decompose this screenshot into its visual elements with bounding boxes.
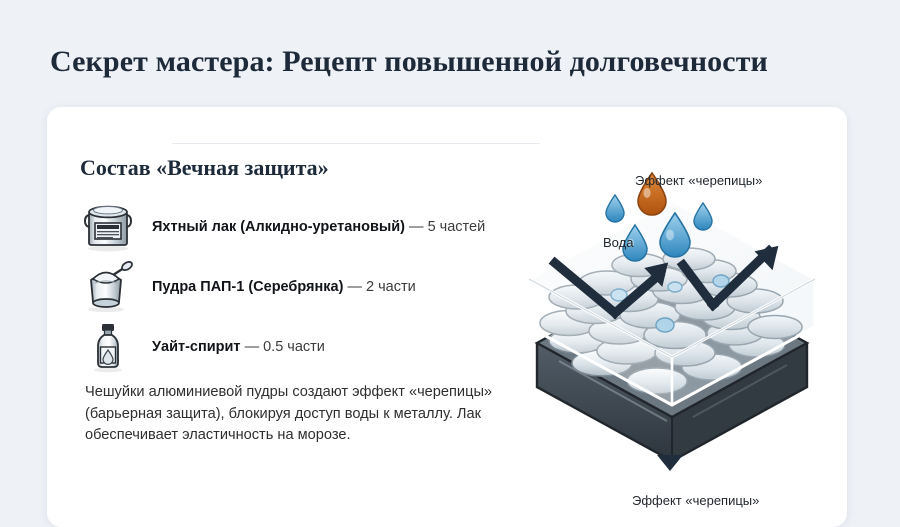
diagram-label-top: Эффект «черепицы»	[635, 173, 762, 188]
tile-effect-diagram: Эффект «черепицы» Вода Эффект «черепицы»	[507, 155, 837, 515]
ingredient-label: Уайт-спирит — 0.5 части	[152, 339, 325, 355]
infographic-page: Секрет мастера: Рецепт повышенной долгов…	[0, 0, 900, 502]
ingredient-label: Яхтный лак (Алкидно-уретановый) — 5 част…	[152, 219, 485, 235]
ingredient-label: Пудра ПАП-1 (Серебрянка) — 2 части	[152, 279, 416, 295]
explanation-text: Чешуйки алюминиевой пудры создают эффект…	[85, 382, 520, 447]
powder-jar-icon	[77, 259, 139, 315]
diagram-label-bottom: Эффект «черепицы»	[632, 493, 759, 508]
heading-divider	[172, 143, 540, 144]
ingredient-row: Уайт-спирит — 0.5 части	[77, 319, 325, 375]
page-title: Секрет мастера: Рецепт повышенной долгов…	[50, 44, 768, 80]
ingredient-amount: 5 частей	[428, 219, 486, 235]
paint-can-icon	[77, 199, 139, 255]
ingredient-name: Уайт-спирит	[152, 339, 241, 355]
ingredient-separator: —	[405, 219, 428, 235]
ingredient-row: Яхтный лак (Алкидно-уретановый) — 5 част…	[77, 199, 485, 255]
ingredient-separator: —	[241, 339, 264, 355]
diagram-illustration	[507, 155, 837, 515]
ingredient-amount: 2 части	[366, 279, 416, 295]
ingredient-name: Яхтный лак (Алкидно-уретановый)	[152, 219, 405, 235]
section-title: Состав «Вечная защита»	[80, 154, 329, 182]
solvent-bottle-icon	[77, 319, 139, 375]
ingredient-amount: 0.5 части	[263, 339, 325, 355]
ingredient-row: Пудра ПАП-1 (Серебрянка) — 2 части	[77, 259, 416, 315]
diagram-label-water: Вода	[603, 235, 633, 250]
ingredient-name: Пудра ПАП-1 (Серебрянка)	[152, 279, 343, 295]
ingredient-separator: —	[343, 279, 366, 295]
bottom-pointer-icon	[657, 455, 683, 471]
recipe-card: Состав «Вечная защита»	[47, 107, 847, 527]
